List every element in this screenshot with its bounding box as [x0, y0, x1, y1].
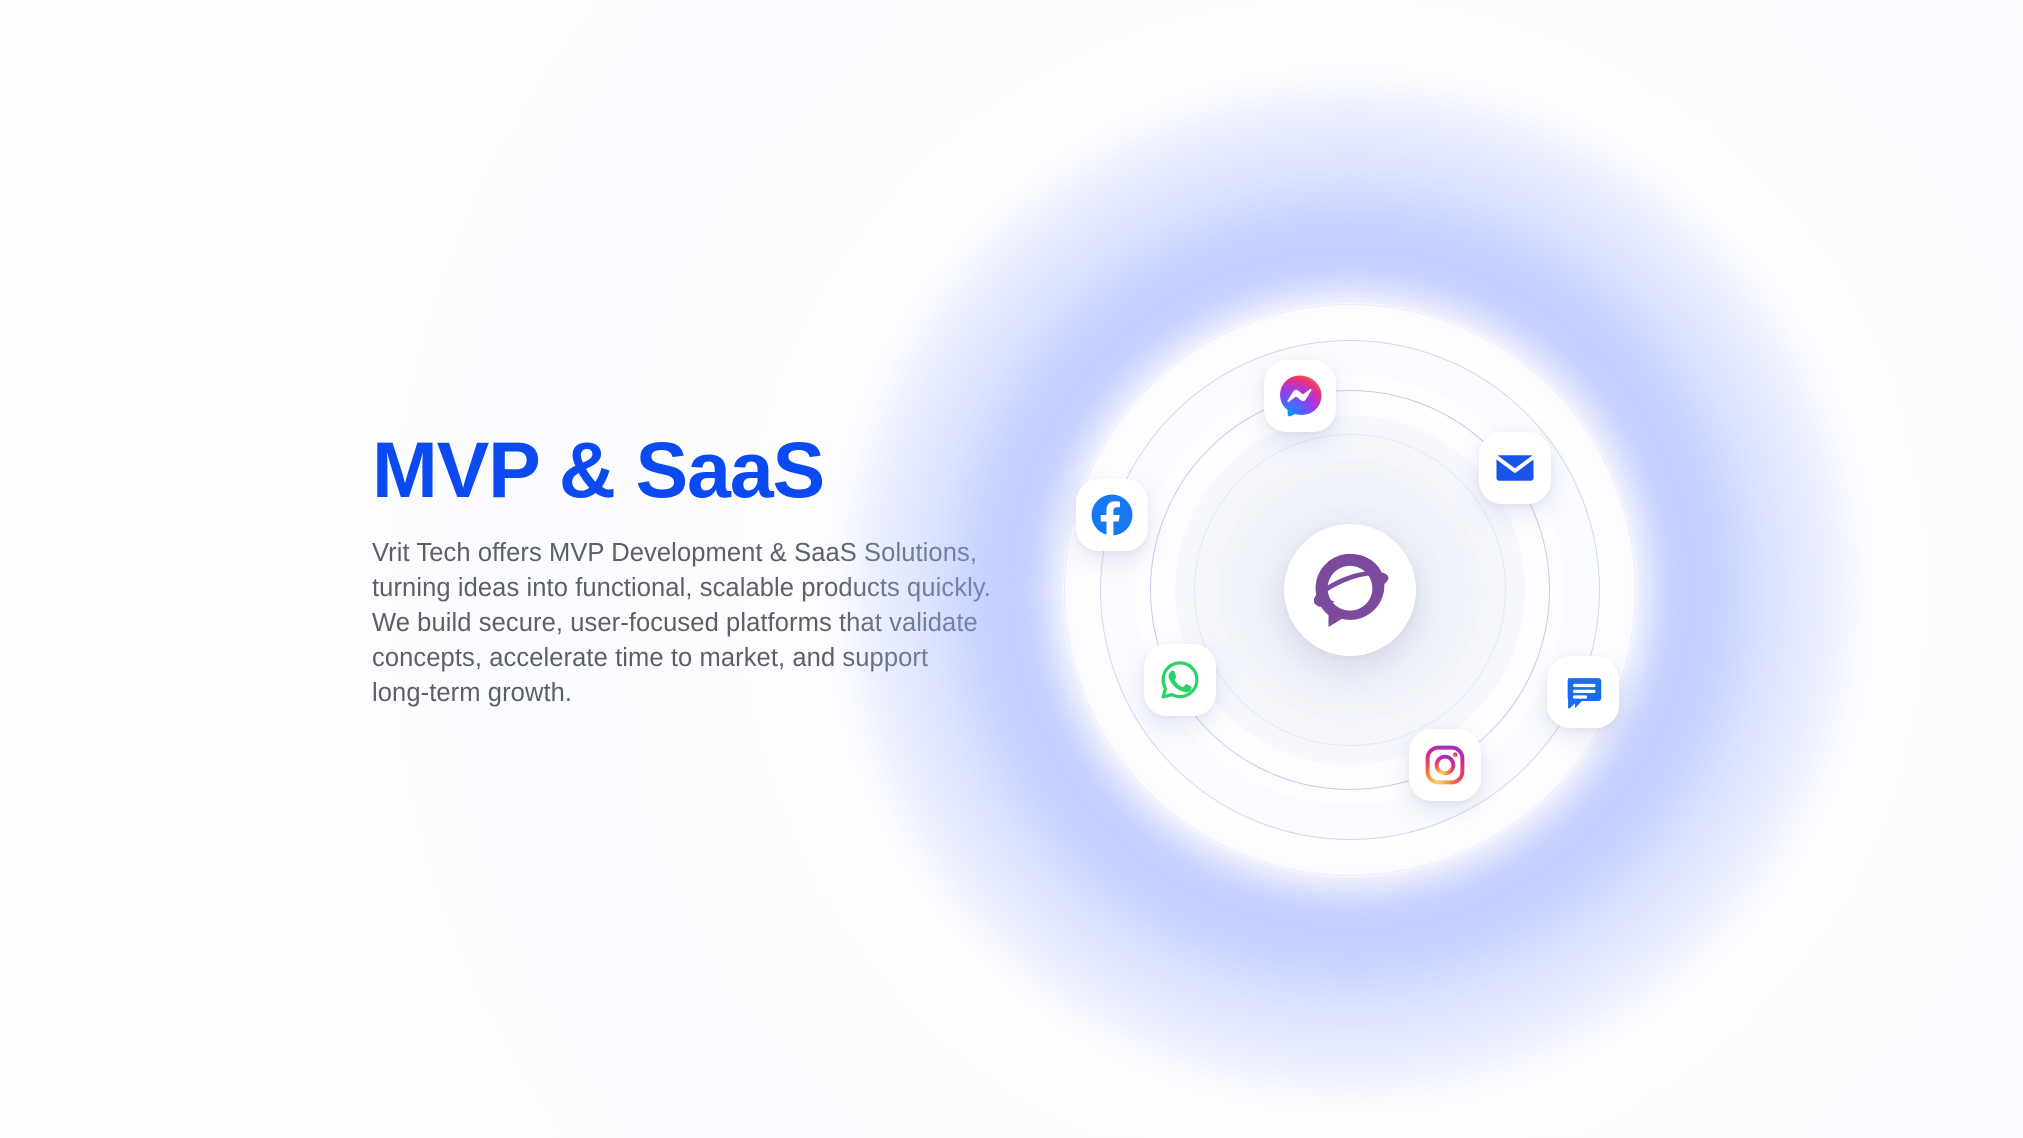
email-icon	[1492, 445, 1538, 491]
channel-badge-facebook[interactable]	[1076, 479, 1148, 551]
messenger-icon	[1277, 373, 1323, 419]
sms-chat-icon	[1560, 669, 1606, 715]
channel-badge-whatsapp[interactable]	[1144, 644, 1216, 716]
vrit-planet-chat-logo-icon	[1307, 547, 1393, 633]
facebook-icon	[1089, 492, 1135, 538]
hero-section: MVP & SaaS Vrit Tech offers MVP Developm…	[0, 0, 2023, 1138]
channel-badge-instagram[interactable]	[1409, 729, 1481, 801]
whatsapp-icon	[1157, 657, 1203, 703]
channel-badge-email[interactable]	[1479, 432, 1551, 504]
channel-badge-sms[interactable]	[1547, 656, 1619, 728]
channel-badge-messenger[interactable]	[1264, 360, 1336, 432]
center-logo-puck[interactable]	[1284, 524, 1416, 656]
instagram-icon	[1422, 742, 1468, 788]
